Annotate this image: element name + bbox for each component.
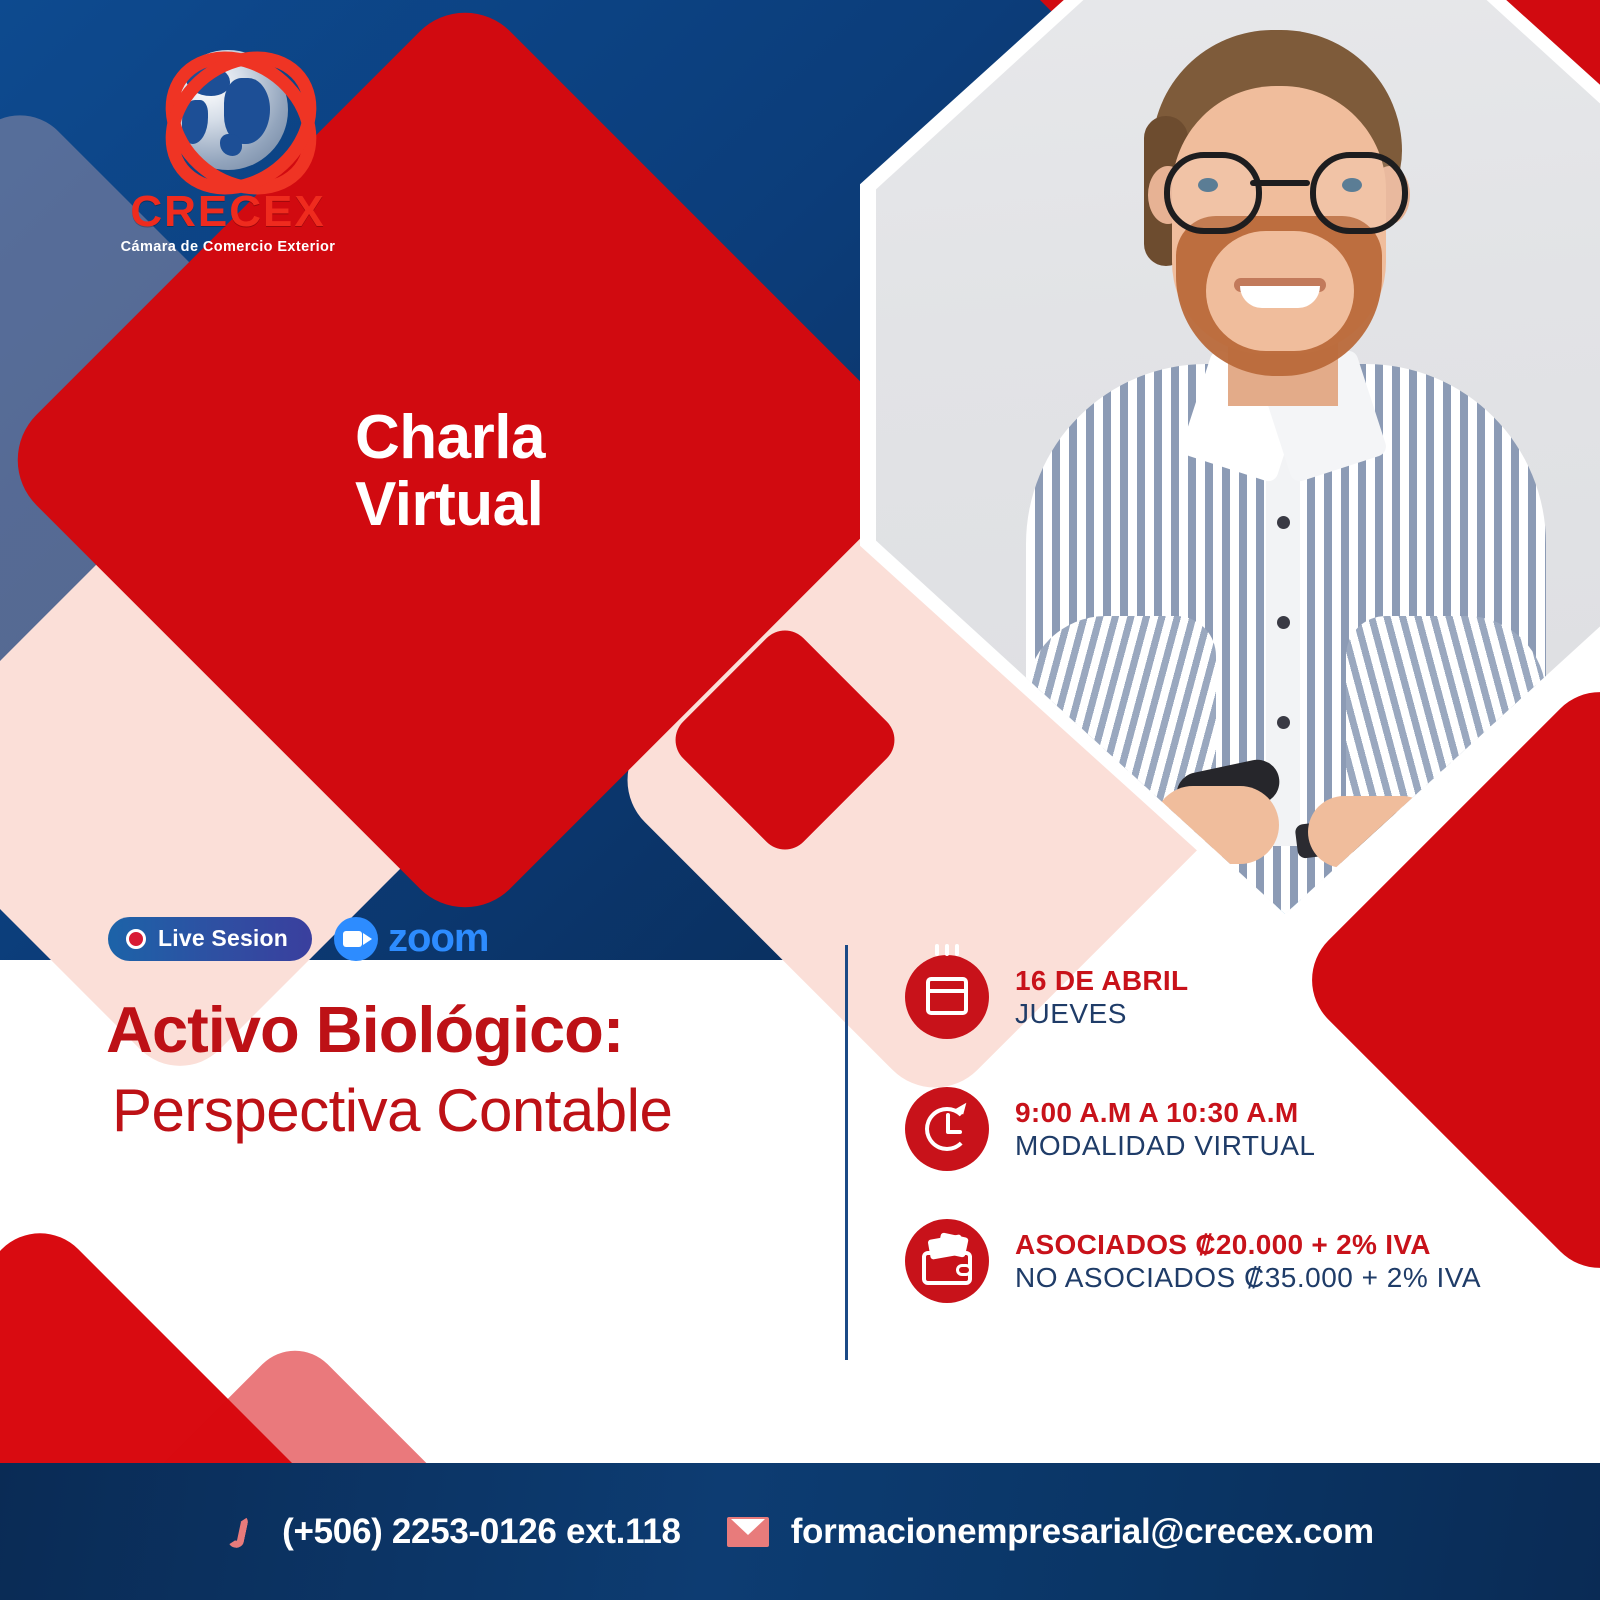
footer-phone[interactable]: (+506) 2253-0126 ext.118 <box>226 1512 681 1552</box>
lower-content: Live Sesion zoom Activo Biológico: Persp… <box>0 900 1600 1460</box>
hero-line-2: Virtual <box>355 472 775 539</box>
badge-row: Live Sesion zoom <box>108 916 488 961</box>
clock-icon <box>905 1087 989 1171</box>
globe-icon <box>158 48 298 188</box>
detail-time-main: 9:00 A.M A 10:30 A.M <box>1015 1096 1316 1129</box>
contact-footer: (+506) 2253-0126 ext.118 formacionempres… <box>0 1463 1600 1600</box>
footer-email[interactable]: formacionempresarial@crecex.com <box>727 1512 1374 1552</box>
hero-line-1: Charla <box>355 405 775 472</box>
zoom-logo[interactable]: zoom <box>334 916 488 961</box>
detail-price-sub: NO ASOCIADOS ₡35.000 + 2% IVA <box>1015 1261 1481 1294</box>
event-details-list: 16 DE ABRIL JUEVES 9:00 A.M A 10:30 A.M … <box>905 955 1525 1351</box>
photo-image <box>876 0 1600 914</box>
envelope-icon <box>727 1517 769 1547</box>
flyer-canvas: CRECEX Cámara de Comercio Exterior Charl… <box>0 0 1600 1600</box>
footer-email-text: formacionempresarial@crecex.com <box>791 1512 1374 1552</box>
live-session-badge[interactable]: Live Sesion <box>108 917 312 961</box>
speaker-photo <box>860 0 1600 930</box>
video-camera-icon <box>334 917 378 961</box>
wallet-icon <box>905 1219 989 1303</box>
detail-date-sub: JUEVES <box>1015 997 1188 1030</box>
detail-date-main: 16 DE ABRIL <box>1015 964 1188 997</box>
event-title-line-2: Perspectiva Contable <box>112 1076 672 1145</box>
glasses-icon <box>1164 152 1396 222</box>
record-dot-icon <box>126 929 146 949</box>
crecex-logo: CRECEX Cámara de Comercio Exterior <box>108 48 348 248</box>
footer-phone-text: (+506) 2253-0126 ext.118 <box>282 1512 681 1552</box>
detail-row-price: ASOCIADOS ₡20.000 + 2% IVA NO ASOCIADOS … <box>905 1219 1525 1303</box>
detail-row-date: 16 DE ABRIL JUEVES <box>905 955 1525 1039</box>
detail-row-time: 9:00 A.M A 10:30 A.M MODALIDAD VIRTUAL <box>905 1087 1525 1171</box>
live-session-label: Live Sesion <box>158 925 288 952</box>
calendar-icon <box>905 955 989 1039</box>
vertical-divider <box>845 945 848 1360</box>
hero-badge-text: Charla Virtual <box>355 405 775 539</box>
logo-tagline: Cámara de Comercio Exterior <box>108 239 348 255</box>
detail-time-sub: MODALIDAD VIRTUAL <box>1015 1129 1316 1162</box>
zoom-wordmark: zoom <box>388 916 488 961</box>
event-title-line-1: Activo Biológico: <box>106 992 623 1067</box>
phone-icon <box>226 1514 260 1550</box>
teeth <box>1240 286 1320 308</box>
logo-wordmark: CRECEX <box>108 190 348 234</box>
detail-price-main: ASOCIADOS ₡20.000 + 2% IVA <box>1015 1228 1481 1261</box>
